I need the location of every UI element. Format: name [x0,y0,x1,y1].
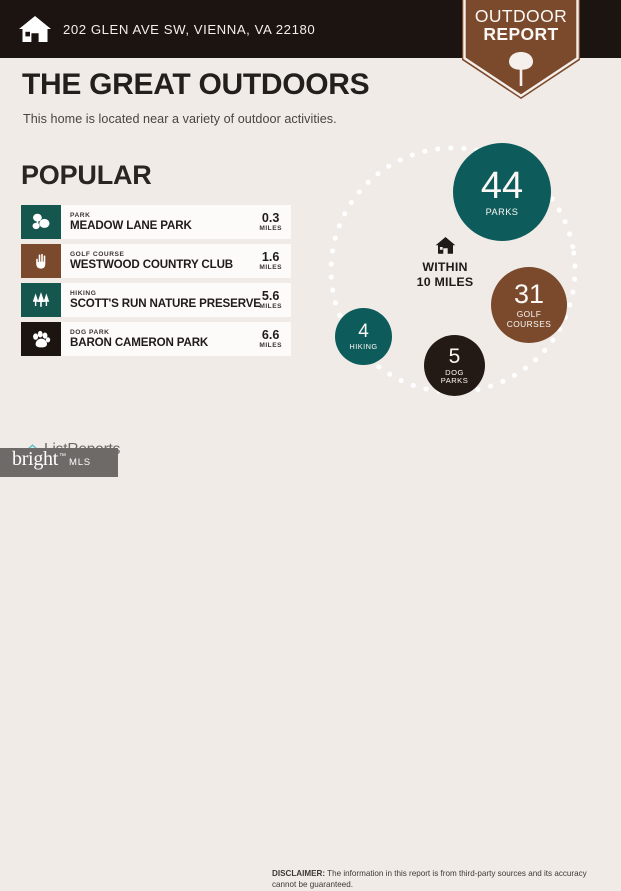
house-icon [0,14,52,44]
list-item-name: BARON CAMERON PARK [70,336,255,349]
list-item[interactable]: HIKING SCOTT'S RUN NATURE PRESERVE 5.6 M… [21,283,291,317]
popular-heading: POPULAR [21,160,152,191]
page-title: THE GREAT OUTDOORS [22,68,369,102]
stat-label-line-2: COURSES [507,320,552,329]
center-line-2: 10 MILES [399,275,491,290]
list-item-distance: 5.6 MILES [255,283,291,317]
list-item-name: SCOTT'S RUN NATURE PRESERVE [70,297,255,310]
list-item-category: DOG PARK [70,329,255,336]
bright-mls-watermark: bright ™ MLS [0,448,118,477]
mls-label: MLS [69,457,91,468]
list-item-distance: 6.6 MILES [255,322,291,356]
distance-value: 5.6 [262,290,280,303]
list-item-distance: 0.3 MILES [255,205,291,239]
distance-unit: MILES [259,264,282,271]
list-item-name: WESTWOOD COUNTRY CLUB [70,258,255,271]
golf-flag-icon [21,244,61,278]
stat-bubble-dog-parks[interactable]: 5 DOG PARKS [424,335,485,396]
disclaimer: DISCLAIMER: The information in this repo… [272,868,594,891]
center-line-1: WITHIN [399,260,491,275]
distance-unit: MILES [259,342,282,349]
outdoor-report-badge: OUTDOOR REPORT [462,0,580,99]
diagram-center-label: WITHIN 10 MILES [399,236,491,289]
list-item-category: GOLF COURSE [70,251,255,258]
distance-unit: MILES [259,303,282,310]
stat-label-line-2: PARKS [441,377,468,386]
paw-print-icon [21,322,61,356]
property-address: 202 GLEN AVE SW, VIENNA, VA 22180 [63,22,315,37]
distance-value: 1.6 [262,251,280,264]
stat-label: PARKS [486,208,519,217]
stat-value: 31 [514,281,544,308]
list-item-category: HIKING [70,290,255,297]
list-item[interactable]: GOLF COURSE WESTWOOD COUNTRY CLUB 1.6 MI… [21,244,291,278]
trademark-symbol: ™ [59,453,66,460]
distance-unit: MILES [259,225,282,232]
stat-value: 4 [358,322,369,341]
distance-value: 0.3 [262,212,280,225]
stat-bubble-parks[interactable]: 44 PARKS [453,143,551,241]
list-item[interactable]: PARK MEADOW LANE PARK 0.3 MILES [21,205,291,239]
distance-value: 6.6 [262,329,280,342]
disclaimer-label: DISCLAIMER: [272,869,325,878]
stat-bubble-golf-courses[interactable]: 31 GOLF COURSES [491,267,567,343]
within-10-miles-diagram: 44 PARKS 31 GOLF COURSES 5 DOG PARKS 4 H… [325,140,615,422]
bright-brand: bright [12,448,58,471]
pine-trees-icon [21,283,61,317]
stat-bubble-hiking[interactable]: 4 HIKING [335,308,392,365]
list-item-category: PARK [70,212,255,219]
popular-list: PARK MEADOW LANE PARK 0.3 MILES GOLF COU… [21,205,291,361]
page-subtitle: This home is located near a variety of o… [23,112,337,126]
stat-label: HIKING [349,343,377,350]
footer: ListReports bright ™ MLS DISCLAIMER: The… [0,424,621,480]
stat-value: 44 [481,167,523,205]
list-item[interactable]: DOG PARK BARON CAMERON PARK 6.6 MILES [21,322,291,356]
house-icon [399,236,491,255]
stat-value: 5 [449,346,461,367]
park-trees-icon [21,205,61,239]
list-item-distance: 1.6 MILES [255,244,291,278]
list-item-name: MEADOW LANE PARK [70,219,255,232]
